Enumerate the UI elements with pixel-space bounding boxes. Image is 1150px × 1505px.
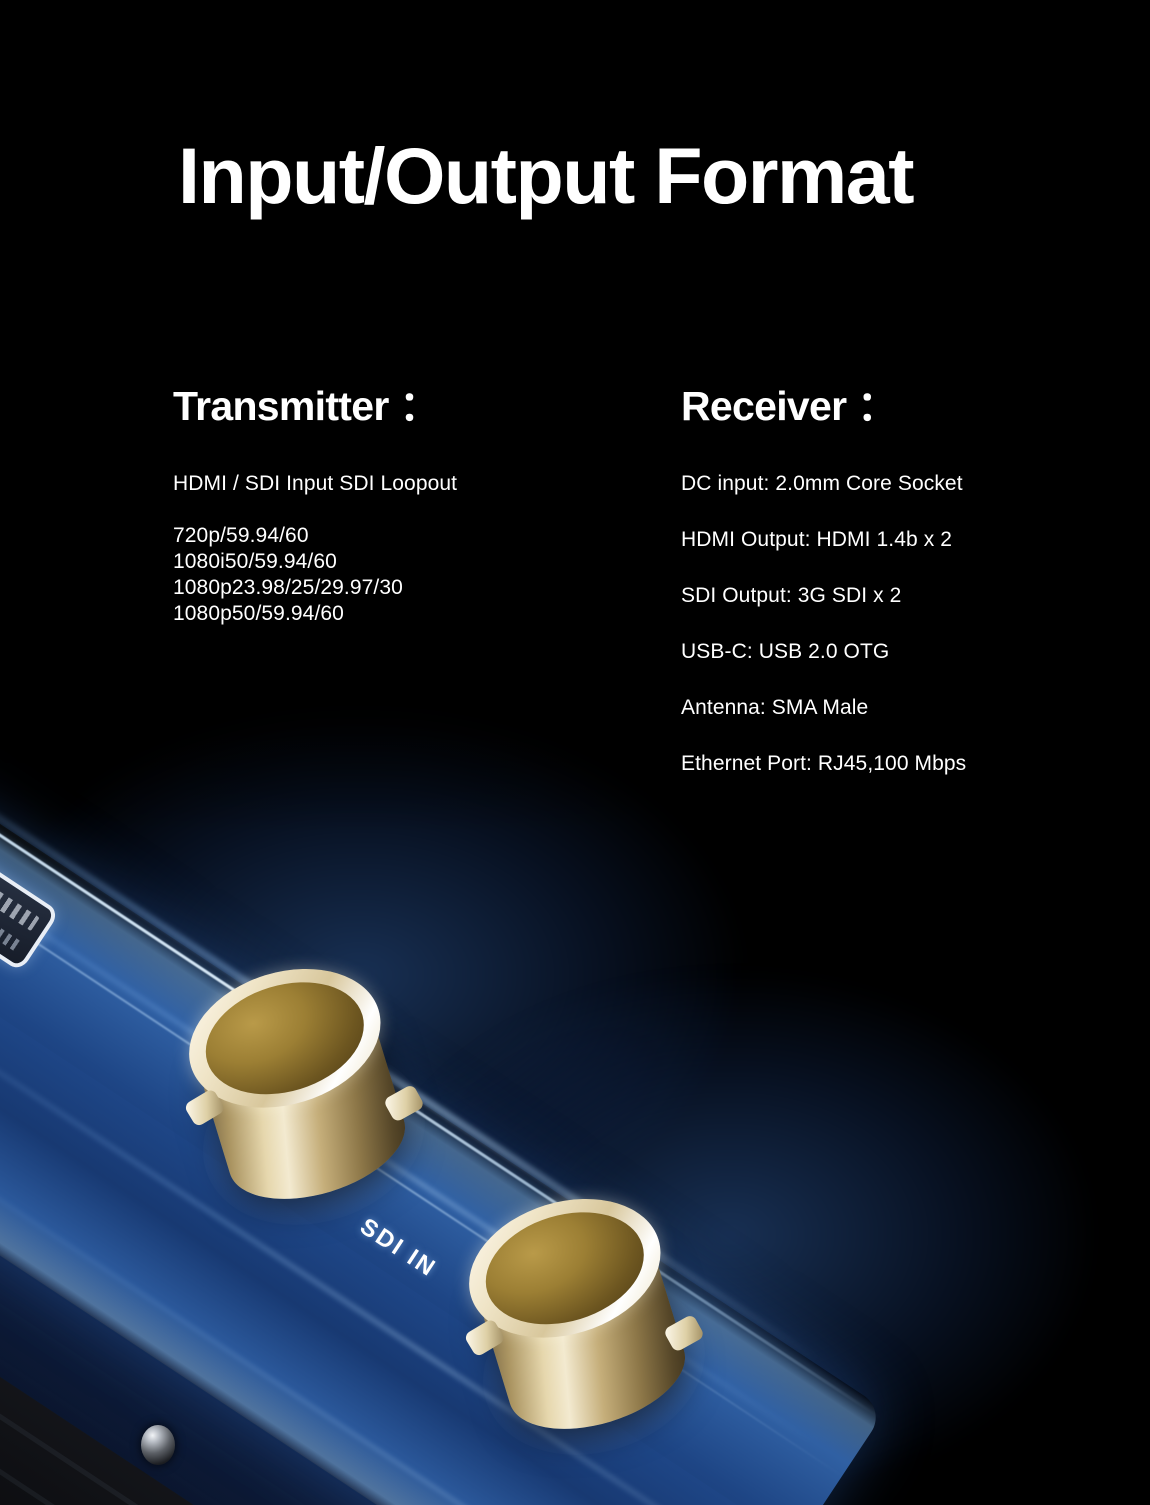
receiver-spec-line: Antenna: SMA Male: [681, 695, 1111, 721]
device-lower-chassis: [0, 845, 891, 1505]
sdi-in-label: SDI IN: [355, 1213, 442, 1284]
transmitter-spec-list: HDMI / SDI Input SDI Loopout 720p/59.94/…: [173, 471, 643, 627]
receiver-spec-list: DC input: 2.0mm Core Socket HDMI Output:…: [681, 471, 1111, 777]
hdmi-port-shell: [0, 773, 60, 972]
receiver-spec-line: USB-C: USB 2.0 OTG: [681, 639, 1111, 665]
status-led-dome: [141, 1425, 175, 1465]
bnc-barrel: [191, 993, 418, 1218]
blue-glow: [0, 715, 740, 1235]
device-dark-housing: [0, 975, 494, 1505]
page-title: Input/Output Format: [178, 136, 913, 215]
bnc-bayonet-lug: [463, 1318, 506, 1358]
receiver-spec-line: Ethernet Port: RJ45,100 Mbps: [681, 751, 1111, 777]
bnc-rim: [172, 947, 398, 1131]
bnc-seat: [461, 1253, 727, 1482]
transmitter-format-line: 720p/59.94/60: [173, 523, 643, 549]
light-streak: [0, 695, 821, 1364]
transmitter-format-line: 1080p23.98/25/29.97/30: [173, 575, 643, 601]
light-streak: [0, 937, 851, 1505]
receiver-column: Receiver ： DC input: 2.0mm Core Socket H…: [681, 386, 1111, 777]
blue-glow-secondary: [370, 975, 1090, 1495]
light-streak: [0, 1065, 851, 1505]
hdmi-in-port: [0, 773, 60, 972]
transmitter-format-line: 1080p50/59.94/60: [173, 601, 643, 627]
bnc-bayonet-lug: [183, 1088, 226, 1128]
page-root: Input/Output Format: [0, 0, 1150, 1500]
bnc-connector-sdi-in: [172, 947, 428, 1230]
transmitter-format-line: 1080i50/59.94/60: [173, 549, 643, 575]
bnc-bore: [472, 1194, 658, 1343]
bnc-bayonet-lug: [383, 1084, 425, 1123]
bnc-rim: [452, 1177, 678, 1361]
hdmi-pin-row: [0, 794, 40, 931]
receiver-spec-line: HDMI Output: HDMI 1.4b x 2: [681, 527, 1111, 553]
light-streak: [0, 783, 821, 1449]
bnc-bayonet-lug: [663, 1314, 705, 1353]
device-chassis: [0, 665, 886, 1505]
receiver-heading: Receiver ：: [681, 386, 1111, 427]
transmitter-heading: Transmitter ：: [173, 386, 643, 427]
receiver-spec-line: DC input: 2.0mm Core Socket: [681, 471, 1111, 497]
bnc-connector-secondary: [452, 1177, 708, 1460]
bnc-bore: [192, 964, 378, 1113]
bnc-seat: [181, 1023, 447, 1252]
hdmi-tooth-row: [0, 819, 23, 953]
transmitter-lead-line: HDMI / SDI Input SDI Loopout: [173, 471, 643, 497]
bnc-barrel: [471, 1223, 698, 1448]
receiver-spec-line: SDI Output: 3G SDI x 2: [681, 583, 1111, 609]
transmitter-column: Transmitter ： HDMI / SDI Input SDI Loopo…: [173, 386, 643, 627]
